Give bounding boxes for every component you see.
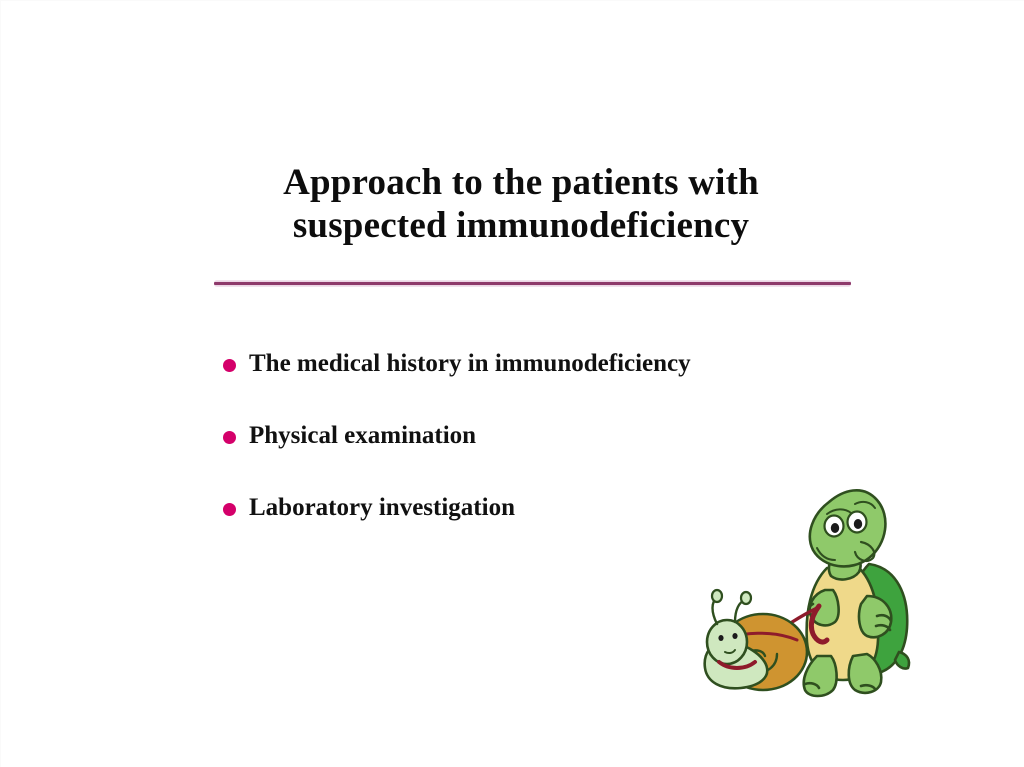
bullet-label-1: The medical history in immunodeficiency	[249, 349, 691, 379]
bullet-dot-icon	[223, 431, 236, 444]
bullet-dot-icon	[223, 359, 236, 372]
title-divider	[214, 282, 851, 285]
bullet-dot-icon	[223, 503, 236, 516]
slide-canvas: Approach to the patients with suspected …	[0, 0, 1024, 767]
turtle-walking-snail-icon	[701, 456, 951, 701]
bullet-label-3: Laboratory investigation	[249, 493, 515, 523]
bullet-label-2: Physical examination	[249, 421, 476, 451]
list-item: The medical history in immunodeficiency	[223, 349, 863, 421]
title-line-1: Approach to the patients with	[171, 161, 871, 204]
title-line-2: suspected immunodeficiency	[171, 204, 871, 247]
page-title: Approach to the patients with suspected …	[171, 161, 871, 247]
